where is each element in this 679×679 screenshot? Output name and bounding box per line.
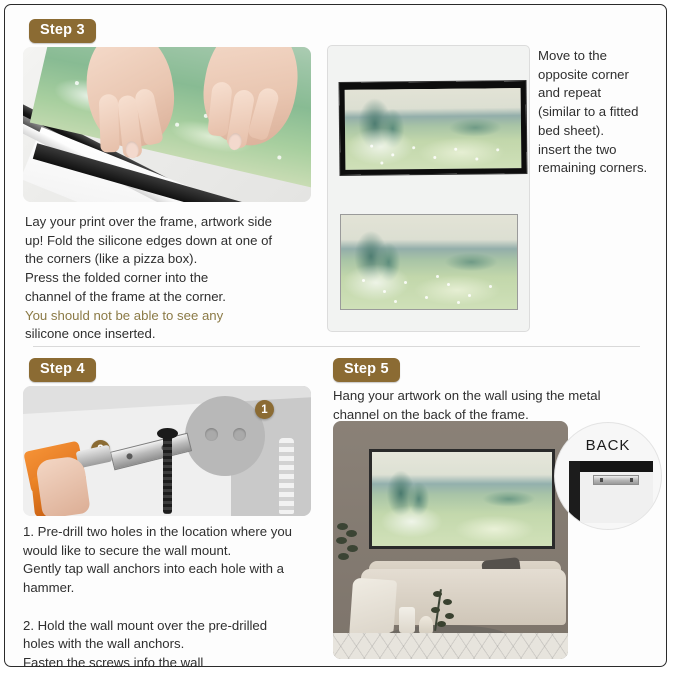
step-3-photo (23, 47, 311, 202)
step-4-instructions: 1. Pre-drill two holes in the location w… (23, 523, 315, 667)
step-3-artwork-panel (327, 45, 530, 332)
artwork-speckles (341, 215, 517, 309)
step-3-section: Step 3 (5, 5, 667, 346)
pre-drilled-holes-closeup (185, 396, 265, 476)
step-4-photo: 1 2 (23, 386, 311, 516)
metal-hanging-channel (593, 475, 639, 485)
hung-artwork-frame (369, 449, 555, 549)
artwork-with-silicone-visible (340, 81, 527, 175)
step-3-instructions: Lay your print over the frame, artwork s… (25, 213, 325, 344)
step-5-photo (333, 421, 568, 659)
section-divider (33, 346, 640, 347)
hung-artwork (372, 452, 552, 546)
area-rug (333, 633, 568, 659)
step-3-instructions-part1: Lay your print over the frame, artwork s… (25, 213, 325, 307)
step-5-section: Step 5 Hang your artwork on the wall usi… (325, 351, 667, 667)
screw (163, 432, 172, 514)
frame-back-side-edge (569, 461, 580, 523)
step-3-side-note: Move to the opposite corner and repeat (… (538, 47, 658, 178)
instruction-card: Step 3 (4, 4, 667, 667)
marker-1: 1 (255, 400, 274, 419)
step-5-badge: Step 5 (333, 358, 400, 382)
step-4-badge: Step 4 (29, 358, 96, 382)
small-vase (419, 616, 433, 634)
step-4-section: Step 4 1 2 1. Pre-drill two holes in the… (5, 351, 325, 667)
wall-anchor (279, 438, 294, 514)
step-3-instructions-highlight: You should not be able to see any (25, 307, 325, 326)
back-callout-label: BACK (555, 437, 661, 454)
screw-head (157, 428, 178, 439)
frame-back-top-edge (569, 461, 653, 472)
artwork-speckles (345, 86, 522, 170)
back-detail-callout: BACK (555, 423, 661, 529)
artwork-seated-flat (340, 214, 518, 310)
side-plant (335, 521, 359, 569)
candle-vase (399, 607, 415, 633)
step-5-instructions: Hang your artwork on the wall using the … (333, 387, 653, 424)
step-3-instructions-part3: silicone once inserted. (25, 325, 325, 344)
step-3-badge: Step 3 (29, 19, 96, 43)
